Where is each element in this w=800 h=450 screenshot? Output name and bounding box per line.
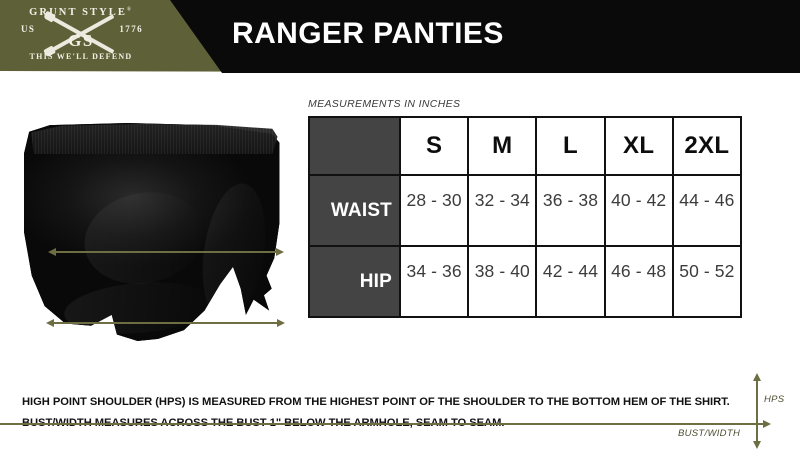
fabric-highlight: [76, 182, 212, 295]
brand-motto: THIS WE'LL DEFEND: [13, 52, 149, 61]
legend-label-hps: HPS: [764, 394, 784, 405]
shorts-illustration: [24, 123, 282, 341]
hip-measure-arrow-icon: [53, 322, 278, 324]
page-title: RANGER PANTIES: [232, 17, 504, 51]
cell-hip-m: 38 - 40: [468, 246, 536, 317]
fabric-highlight: [62, 277, 216, 340]
bust-width-arrow-icon: [0, 423, 764, 425]
brand-monogram: GS: [13, 31, 149, 51]
measurement-legend: HPS BUST/WIDTH: [672, 378, 794, 446]
cell-hip-2xl: 50 - 52: [673, 246, 741, 317]
table-row-waist: WAIST 28 - 30 32 - 34 36 - 38 40 - 42 44…: [309, 175, 741, 246]
cell-hip-xl: 46 - 48: [605, 246, 673, 317]
table-header-row: S M L XL 2XL: [309, 117, 741, 175]
cell-waist-xl: 40 - 42: [605, 175, 673, 246]
table-corner-cell: [309, 117, 400, 175]
brand-name: GRUNT STYLE®: [13, 7, 149, 18]
brand-logo: GRUNT STYLE® US 1776 GS THIS WE'LL DEFEN…: [13, 4, 149, 66]
cell-hip-s: 34 - 36: [400, 246, 468, 317]
size-chart-table: S M L XL 2XL WAIST 28 - 30 32 - 34 36 - …: [308, 116, 742, 318]
column-header-2xl: 2XL: [673, 117, 741, 175]
row-header-hip: HIP: [309, 246, 400, 317]
cell-waist-m: 32 - 34: [468, 175, 536, 246]
hps-arrow-icon: [756, 380, 758, 442]
row-header-waist: WAIST: [309, 175, 400, 246]
product-image: [10, 105, 300, 370]
column-header-s: S: [400, 117, 468, 175]
waist-measure-arrow-icon: [55, 251, 277, 253]
column-header-l: L: [536, 117, 604, 175]
footer-notes: HIGH POINT SHOULDER (HPS) IS MEASURED FR…: [22, 396, 682, 438]
column-header-xl: XL: [605, 117, 673, 175]
note-hps: HIGH POINT SHOULDER (HPS) IS MEASURED FR…: [22, 396, 682, 408]
cell-hip-l: 42 - 44: [536, 246, 604, 317]
legend-label-bust-width: BUST/WIDTH: [678, 428, 740, 439]
table-row-hip: HIP 34 - 36 38 - 40 42 - 44 46 - 48 50 -…: [309, 246, 741, 317]
waistband: [26, 124, 280, 154]
cell-waist-s: 28 - 30: [400, 175, 468, 246]
cell-waist-2xl: 44 - 46: [673, 175, 741, 246]
page-header: GRUNT STYLE® US 1776 GS THIS WE'LL DEFEN…: [0, 0, 800, 73]
fabric-highlight: [195, 180, 274, 327]
column-header-m: M: [468, 117, 536, 175]
cell-waist-l: 36 - 38: [536, 175, 604, 246]
trademark-symbol: ®: [127, 8, 133, 13]
measurement-units-note: MEASUREMENTS IN INCHES: [308, 98, 460, 110]
